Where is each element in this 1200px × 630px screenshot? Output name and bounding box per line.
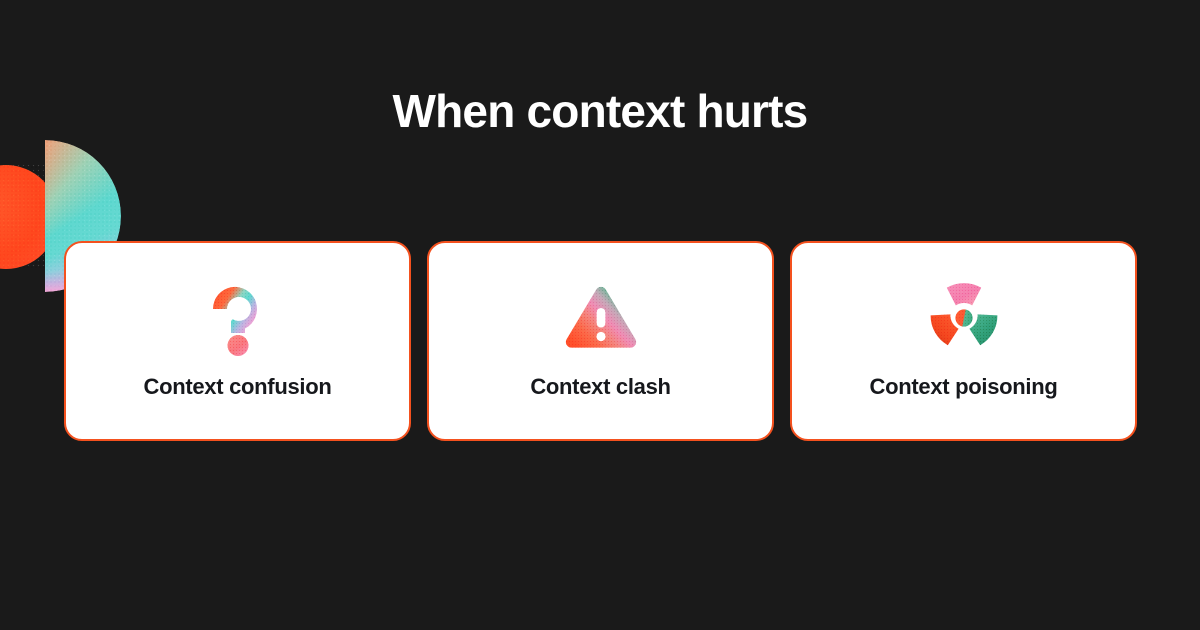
card-label: Context confusion xyxy=(143,374,331,400)
question-mark-icon xyxy=(195,282,281,354)
card-context-poisoning[interactable]: Context poisoning xyxy=(790,241,1137,441)
card-context-confusion[interactable]: Context confusion xyxy=(64,241,411,441)
card-label: Context clash xyxy=(530,374,670,400)
page-title: When context hurts xyxy=(0,82,1200,140)
orange-circle xyxy=(0,165,58,269)
warning-triangle-icon xyxy=(558,282,644,354)
grain-overlay xyxy=(0,165,58,269)
card-context-clash[interactable]: Context clash xyxy=(427,241,774,441)
cards-row: Context confusion xyxy=(64,241,1137,441)
card-label: Context poisoning xyxy=(870,374,1058,400)
radiation-icon xyxy=(921,282,1007,354)
